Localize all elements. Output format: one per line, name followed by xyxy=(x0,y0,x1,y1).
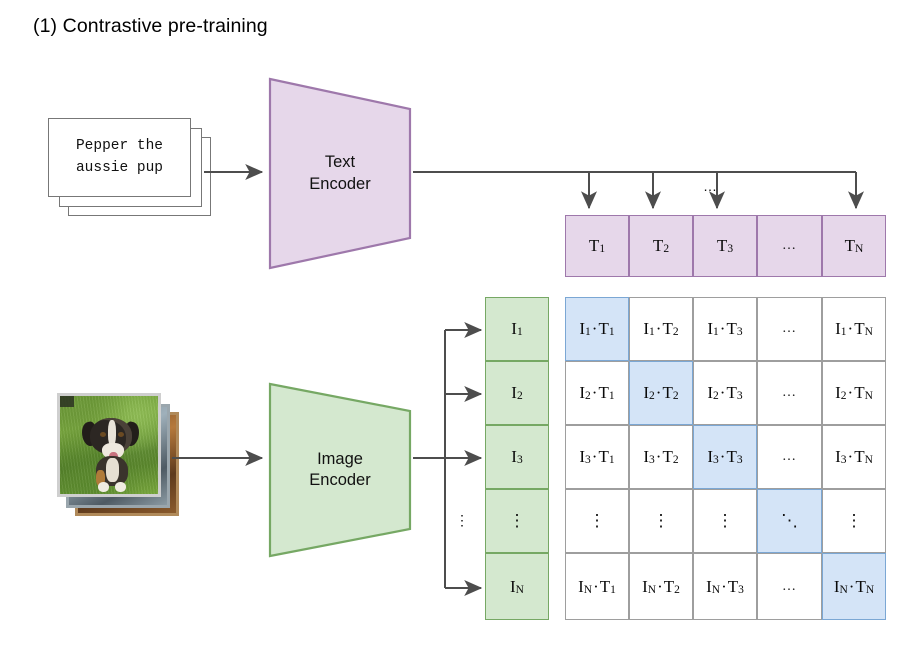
matrix-cell-r3-c4: … xyxy=(757,425,822,489)
text-embedding-cell-3: T3 xyxy=(693,215,757,277)
matrix-cell-r5-c2: IN·T2 xyxy=(629,553,693,620)
matrix-cell-r4-c5: ⋮ xyxy=(822,489,886,553)
photo-corner-shadow xyxy=(60,396,74,407)
caption-line-2: aussie pup xyxy=(76,158,163,179)
matrix-cell-r2-c4: … xyxy=(757,361,822,425)
text-embedding-cell-1: T1 xyxy=(565,215,629,277)
matrix-cell-r2-c2: I2·T2 xyxy=(629,361,693,425)
image-card-front xyxy=(57,393,161,497)
matrix-cell-r4-c4: ⋱ xyxy=(757,489,822,553)
matrix-cell-r1-c4: … xyxy=(757,297,822,361)
matrix-cell-r1-c2: I1·T2 xyxy=(629,297,693,361)
matrix-cell-r5-c1: IN·T1 xyxy=(565,553,629,620)
text-embedding-cell-2: T2 xyxy=(629,215,693,277)
matrix-cell-r5-c5: IN·TN xyxy=(822,553,886,620)
matrix-cell-r3-c1: I3·T1 xyxy=(565,425,629,489)
matrix-cell-r3-c2: I3·T2 xyxy=(629,425,693,489)
figure-canvas: (1) Contrastive pre-training Pepper the … xyxy=(0,0,906,654)
matrix-cell-r2-c5: I2·TN xyxy=(822,361,886,425)
matrix-cell-r3-c5: I3·TN xyxy=(822,425,886,489)
puppy-paw-left xyxy=(98,482,109,492)
matrix-cell-r1-c5: I1·TN xyxy=(822,297,886,361)
image-embedding-cell-4: ⋮ xyxy=(485,489,549,553)
text-embedding-cell-5: TN xyxy=(822,215,886,277)
puppy-eye-left xyxy=(100,432,106,437)
text-encoder-label: Text Encoder xyxy=(309,152,370,194)
image-embedding-cell-3: I3 xyxy=(485,425,549,489)
image-branch-ellipsis: ⋮ xyxy=(455,512,471,529)
matrix-cell-r4-c2: ⋮ xyxy=(629,489,693,553)
matrix-cell-r5-c3: IN·T3 xyxy=(693,553,757,620)
image-embedding-cell-1: I1 xyxy=(485,297,549,361)
text-branch-ellipsis: … xyxy=(703,178,719,194)
matrix-cell-r3-c3: I3·T3 xyxy=(693,425,757,489)
matrix-cell-r5-c4: … xyxy=(757,553,822,620)
matrix-cell-r4-c1: ⋮ xyxy=(565,489,629,553)
caption-line-1: Pepper the xyxy=(76,136,163,157)
puppy-white-bib xyxy=(106,458,119,482)
text-embedding-cell-4: … xyxy=(757,215,822,277)
matrix-cell-r2-c1: I2·T1 xyxy=(565,361,629,425)
matrix-cell-r2-c3: I2·T3 xyxy=(693,361,757,425)
puppy-eye-right xyxy=(118,432,124,437)
matrix-cell-r4-c3: ⋮ xyxy=(693,489,757,553)
text-encoder-block: Text Encoder xyxy=(267,76,413,271)
matrix-cell-r1-c1: I1·T1 xyxy=(565,297,629,361)
image-embedding-cell-2: I2 xyxy=(485,361,549,425)
image-embedding-cell-5: IN xyxy=(485,553,549,620)
image-encoder-label: Image Encoder xyxy=(309,449,370,491)
puppy-paw-right xyxy=(115,482,126,492)
text-card-front: Pepper the aussie pup xyxy=(48,118,191,197)
image-encoder-block: Image Encoder xyxy=(267,381,413,559)
matrix-cell-r1-c3: I1·T3 xyxy=(693,297,757,361)
page-title: (1) Contrastive pre-training xyxy=(33,15,268,38)
